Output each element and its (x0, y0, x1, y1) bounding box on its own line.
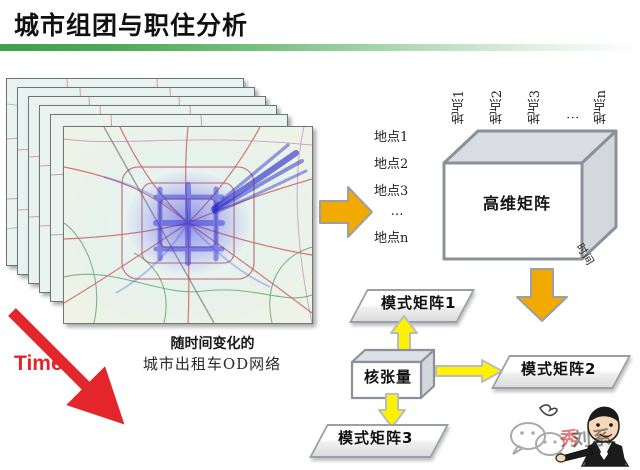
pattern-matrix-2-label: 模式矩阵2 (521, 358, 596, 379)
cube-column-label: 地点2 (488, 90, 507, 124)
cube-column-label: 地点1 (450, 90, 469, 124)
arrow-down-icon (513, 267, 571, 323)
slide-canvas: 城市组团与职住分析 (0, 0, 640, 470)
cube-row-label: 地点n (374, 225, 436, 252)
map-layer-front (63, 126, 313, 324)
core-tensor-label: 核张量 (355, 366, 421, 387)
taxi-od-network-map (64, 127, 312, 323)
cube-label: 高维矩阵 (452, 190, 582, 214)
cube-row-label: 地点2 (374, 151, 436, 178)
taxi-od-layer-stack (6, 78, 318, 333)
arrow-up-icon (389, 313, 419, 353)
cube-column-label: 地点3 (526, 90, 545, 124)
stack-caption-line1: 随时间变化的 (120, 333, 305, 353)
arrow-right-small-icon (434, 358, 504, 384)
stack-caption-line2: 城市出租车OD网络 (112, 353, 312, 374)
title-underline-bar (0, 44, 640, 51)
cube-row-labels: 地点1 地点2 地点3 … 地点n (374, 124, 436, 252)
pattern-matrix-1-label: 模式矩阵1 (381, 292, 456, 313)
page-title: 城市组团与职住分析 (14, 6, 248, 42)
wechat-bubbles-icon (511, 423, 566, 459)
cube-row-label: 地点3 (374, 178, 436, 205)
cube-column-label-ellipsis: ⋮ (566, 111, 581, 124)
pattern-matrix-3-label: 模式矩阵3 (338, 427, 413, 448)
cube-row-label: 地点1 (374, 124, 436, 151)
cube-column-labels: 地点1 地点2 地点3 ⋮ 地点n (446, 66, 626, 124)
time-axis-label: Time (14, 352, 63, 376)
watermark-text-dark: 刘系 (571, 423, 612, 452)
cube-row-label-ellipsis: … (374, 205, 420, 225)
arrow-right-icon (318, 183, 374, 241)
cube-column-label: 地点n (592, 90, 611, 124)
